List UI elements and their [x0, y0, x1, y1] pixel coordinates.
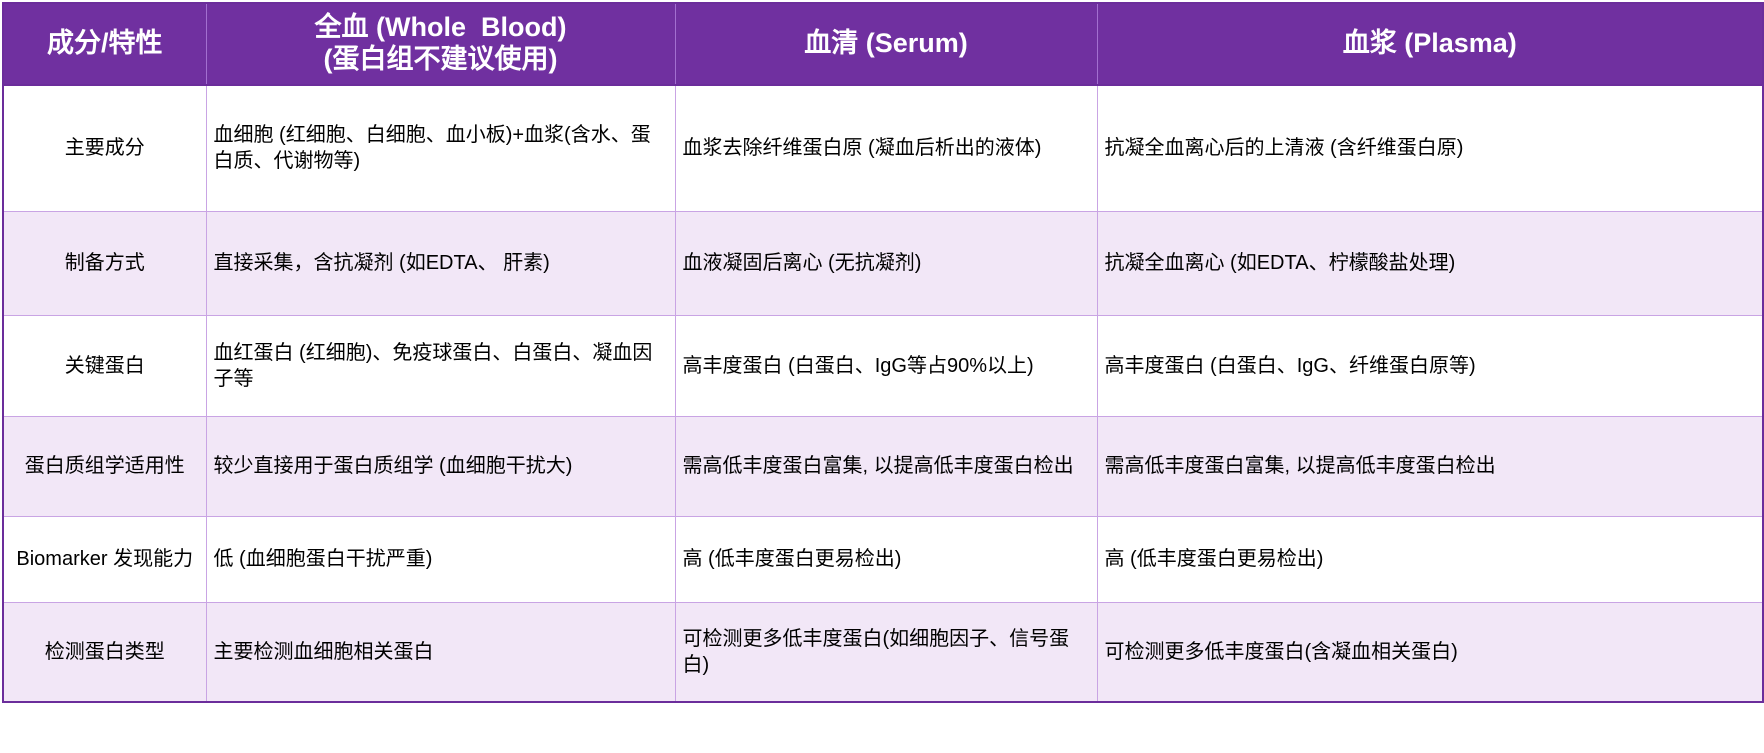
- cell-whole-blood-biomarker-discovery: 低 (血细胞蛋白干扰严重): [206, 516, 675, 602]
- row-label-proteomics-suitability: 蛋白质组学适用性: [3, 416, 206, 516]
- row-label-main-composition: 主要成分: [3, 85, 206, 211]
- column-header-plasma: 血浆 (Plasma): [1097, 3, 1763, 85]
- comparison-table-sheet: 成分/特性 全血 (Whole Blood) (蛋白组不建议使用) 血清 (Se…: [0, 0, 1764, 753]
- cell-plasma-biomarker-discovery: 高 (低丰度蛋白更易检出): [1097, 516, 1763, 602]
- cell-plasma-preparation: 抗凝全血离心 (如EDTA、柠檬酸盐处理): [1097, 211, 1763, 315]
- cell-whole-blood-preparation: 直接采集，含抗凝剂 (如EDTA、 肝素): [206, 211, 675, 315]
- cell-whole-blood-proteomics-suitability: 较少直接用于蛋白质组学 (血细胞干扰大): [206, 416, 675, 516]
- cell-whole-blood-key-proteins: 血红蛋白 (红细胞)、免疫球蛋白、白蛋白、凝血因子等: [206, 315, 675, 416]
- cell-serum-proteomics-suitability: 需高低丰度蛋白富集, 以提高低丰度蛋白检出: [675, 416, 1097, 516]
- row-label-key-proteins: 关键蛋白: [3, 315, 206, 416]
- table-body: 主要成分 血细胞 (红细胞、白细胞、血小板)+血浆(含水、蛋白质、代谢物等) 血…: [3, 85, 1763, 702]
- table-row: 检测蛋白类型 主要检测血细胞相关蛋白 可检测更多低丰度蛋白(如细胞因子、信号蛋白…: [3, 602, 1763, 702]
- header-row: 成分/特性 全血 (Whole Blood) (蛋白组不建议使用) 血清 (Se…: [3, 3, 1763, 85]
- table-row: 关键蛋白 血红蛋白 (红细胞)、免疫球蛋白、白蛋白、凝血因子等 高丰度蛋白 (白…: [3, 315, 1763, 416]
- cell-serum-biomarker-discovery: 高 (低丰度蛋白更易检出): [675, 516, 1097, 602]
- column-header-whole-blood: 全血 (Whole Blood) (蛋白组不建议使用): [206, 3, 675, 85]
- cell-serum-detected-protein-types: 可检测更多低丰度蛋白(如细胞因子、信号蛋白): [675, 602, 1097, 702]
- table-row: 主要成分 血细胞 (红细胞、白细胞、血小板)+血浆(含水、蛋白质、代谢物等) 血…: [3, 85, 1763, 211]
- column-header-plasma-title: 血浆 (Plasma): [1343, 28, 1517, 58]
- cell-plasma-main-composition: 抗凝全血离心后的上清液 (含纤维蛋白原): [1097, 85, 1763, 211]
- column-header-feature: 成分/特性: [3, 3, 206, 85]
- table-header: 成分/特性 全血 (Whole Blood) (蛋白组不建议使用) 血清 (Se…: [3, 3, 1763, 85]
- blood-sample-comparison-table: 成分/特性 全血 (Whole Blood) (蛋白组不建议使用) 血清 (Se…: [2, 2, 1764, 703]
- cell-whole-blood-detected-protein-types: 主要检测血细胞相关蛋白: [206, 602, 675, 702]
- cell-plasma-detected-protein-types: 可检测更多低丰度蛋白(含凝血相关蛋白): [1097, 602, 1763, 702]
- column-header-feature-title: 成分/特性: [47, 28, 163, 58]
- table-row: 制备方式 直接采集，含抗凝剂 (如EDTA、 肝素) 血液凝固后离心 (无抗凝剂…: [3, 211, 1763, 315]
- cell-whole-blood-main-composition: 血细胞 (红细胞、白细胞、血小板)+血浆(含水、蛋白质、代谢物等): [206, 85, 675, 211]
- cell-serum-main-composition: 血浆去除纤维蛋白原 (凝血后析出的液体): [675, 85, 1097, 211]
- table-row: 蛋白质组学适用性 较少直接用于蛋白质组学 (血细胞干扰大) 需高低丰度蛋白富集,…: [3, 416, 1763, 516]
- cell-serum-preparation: 血液凝固后离心 (无抗凝剂): [675, 211, 1097, 315]
- table-row: Biomarker 发现能力 低 (血细胞蛋白干扰严重) 高 (低丰度蛋白更易检…: [3, 516, 1763, 602]
- row-label-preparation: 制备方式: [3, 211, 206, 315]
- cell-plasma-key-proteins: 高丰度蛋白 (白蛋白、IgG、纤维蛋白原等): [1097, 315, 1763, 416]
- row-label-biomarker-discovery: Biomarker 发现能力: [3, 516, 206, 602]
- row-label-detected-protein-types: 检测蛋白类型: [3, 602, 206, 702]
- cell-plasma-proteomics-suitability: 需高低丰度蛋白富集, 以提高低丰度蛋白检出: [1097, 416, 1763, 516]
- column-header-serum-title: 血清 (Serum): [804, 28, 968, 58]
- column-header-whole-blood-subtitle: (蛋白组不建议使用): [215, 44, 667, 76]
- cell-serum-key-proteins: 高丰度蛋白 (白蛋白、IgG等占90%以上): [675, 315, 1097, 416]
- column-header-whole-blood-title: 全血 (Whole Blood): [315, 12, 567, 42]
- column-header-serum: 血清 (Serum): [675, 3, 1097, 85]
